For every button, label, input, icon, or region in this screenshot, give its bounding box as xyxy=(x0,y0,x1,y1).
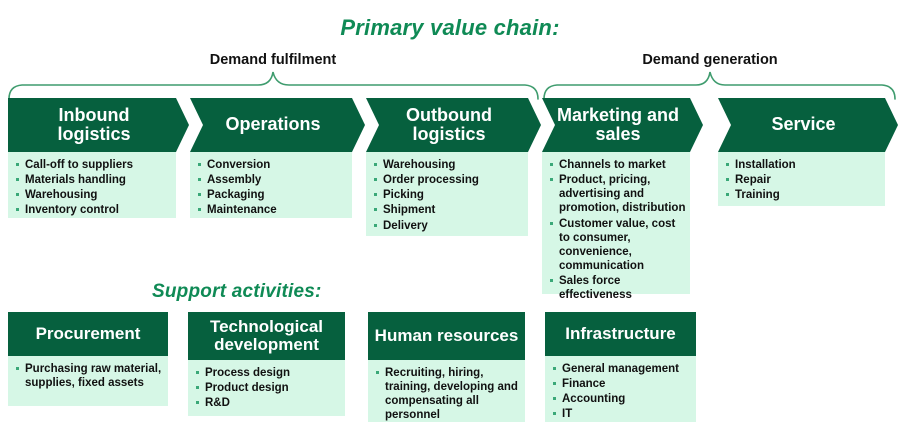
chevron-title-line1: Marketing and xyxy=(557,106,679,125)
list-item: Accounting xyxy=(551,392,692,406)
list-item: Order processing xyxy=(372,173,524,187)
value-chain-diagram: Primary value chain: Support activities:… xyxy=(0,0,900,444)
support-header-human-resources: Human resources xyxy=(368,312,525,360)
chevron-marketing-and-sales[interactable]: Marketing and sales Channels to market P… xyxy=(542,98,690,294)
list-item: Product design xyxy=(194,381,341,395)
support-title-line1: Infrastructure xyxy=(565,324,676,343)
brace-demand-generation xyxy=(544,72,895,99)
list-item: Conversion xyxy=(196,158,348,172)
brace-group xyxy=(0,70,900,100)
list-item: Channels to market xyxy=(548,158,686,172)
list-item: Warehousing xyxy=(372,158,524,172)
list-item: Warehousing xyxy=(14,188,172,202)
list-item: Assembly xyxy=(196,173,348,187)
list-item: Packaging xyxy=(196,188,348,202)
brace-label-demand-fulfilment: Demand fulfilment xyxy=(128,52,418,68)
bullet-list-human-resources: Recruiting, hiring, training, developing… xyxy=(374,366,521,423)
list-item: Shipment xyxy=(372,203,524,217)
chevron-operations[interactable]: Operations Conversion Assembly Packaging… xyxy=(190,98,352,218)
bullet-list-inbound-logistics: Call-off to suppliers Materials handling… xyxy=(14,158,172,218)
list-item: Materials handling xyxy=(14,173,172,187)
chevron-inbound-logistics[interactable]: Inbound logistics Call-off to suppliers … xyxy=(8,98,176,218)
support-title-line2: development xyxy=(214,335,319,354)
chevron-title-line1: Service xyxy=(771,115,835,134)
bullet-list-infrastructure: General management Finance Accounting IT xyxy=(551,362,692,422)
list-item: General management xyxy=(551,362,692,376)
list-item: Recruiting, hiring, training, developing… xyxy=(374,366,521,423)
list-item: IT xyxy=(551,407,692,421)
support-box-technological-development[interactable]: Technological development Process design… xyxy=(188,312,345,416)
bullet-list-operations: Conversion Assembly Packaging Maintenanc… xyxy=(196,158,348,218)
chevron-service[interactable]: Service Installation Repair Training xyxy=(718,98,885,206)
support-header-procurement: Procurement xyxy=(8,312,168,356)
primary-value-chain-title: Primary value chain: xyxy=(0,15,900,41)
chevron-body-inbound-logistics: Call-off to suppliers Materials handling… xyxy=(8,152,176,218)
list-item: Purchasing raw material, supplies, fixed… xyxy=(14,362,164,390)
support-title-line2: resources xyxy=(437,326,518,345)
support-box-procurement[interactable]: Procurement Purchasing raw material, sup… xyxy=(8,312,168,406)
list-item: Maintenance xyxy=(196,203,348,217)
list-item: Repair xyxy=(724,173,881,187)
chevron-header-marketing-and-sales: Marketing and sales xyxy=(542,98,690,152)
list-item: Product, pricing, advertising and promot… xyxy=(548,173,686,215)
chevron-body-outbound-logistics: Warehousing Order processing Picking Shi… xyxy=(366,152,528,236)
support-activities-title: Support activities: xyxy=(152,281,322,303)
support-body-human-resources: Recruiting, hiring, training, developing… xyxy=(368,360,525,422)
chevron-header-service: Service xyxy=(718,98,885,152)
bullet-list-marketing-and-sales: Channels to market Product, pricing, adv… xyxy=(548,158,686,302)
bullet-list-technological-development: Process design Product design R&D xyxy=(194,366,341,410)
list-item: Training xyxy=(724,188,881,202)
list-item: Finance xyxy=(551,377,692,391)
chevron-title-line1: Outbound xyxy=(406,106,492,125)
chevron-outbound-logistics[interactable]: Outbound logistics Warehousing Order pro… xyxy=(366,98,528,236)
list-item: Installation xyxy=(724,158,881,172)
chevron-title-line2: logistics xyxy=(57,125,130,144)
list-item: Customer value, cost to consumer, conven… xyxy=(548,217,686,274)
bullet-list-service: Installation Repair Training xyxy=(724,158,881,202)
list-item: Sales force effectiveness xyxy=(548,274,686,302)
chevron-title-line2: sales xyxy=(557,125,679,144)
support-title-line1: Technological xyxy=(210,317,323,336)
list-item: Picking xyxy=(372,188,524,202)
list-item: Process design xyxy=(194,366,341,380)
bullet-list-outbound-logistics: Warehousing Order processing Picking Shi… xyxy=(372,158,524,233)
bullet-list-procurement: Purchasing raw material, supplies, fixed… xyxy=(14,362,164,390)
list-item: Delivery xyxy=(372,219,524,233)
list-item: R&D xyxy=(194,396,341,410)
chevron-title-line1: Inbound xyxy=(57,106,130,125)
list-item: Call-off to suppliers xyxy=(14,158,172,172)
chevron-body-marketing-and-sales: Channels to market Product, pricing, adv… xyxy=(542,152,690,294)
chevron-header-inbound-logistics: Inbound logistics xyxy=(8,98,176,152)
chevron-body-service: Installation Repair Training xyxy=(718,152,885,206)
support-box-infrastructure[interactable]: Infrastructure General management Financ… xyxy=(545,312,696,422)
support-title-line1: Human xyxy=(375,326,433,345)
support-body-procurement: Purchasing raw material, supplies, fixed… xyxy=(8,356,168,406)
support-header-infrastructure: Infrastructure xyxy=(545,312,696,356)
chevron-title-line1: Operations xyxy=(225,115,320,134)
list-item: Inventory control xyxy=(14,203,172,217)
chevron-body-operations: Conversion Assembly Packaging Maintenanc… xyxy=(190,152,352,218)
brace-demand-fulfilment xyxy=(9,72,538,99)
chevron-title-line2: logistics xyxy=(406,125,492,144)
brace-label-demand-generation: Demand generation xyxy=(565,52,855,68)
chevron-header-operations: Operations xyxy=(190,98,352,152)
support-box-human-resources[interactable]: Human resources Recruiting, hiring, trai… xyxy=(368,312,525,422)
chevron-header-outbound-logistics: Outbound logistics xyxy=(366,98,528,152)
support-header-technological-development: Technological development xyxy=(188,312,345,360)
support-body-technological-development: Process design Product design R&D xyxy=(188,360,345,416)
support-title-line1: Procurement xyxy=(36,324,141,343)
support-body-infrastructure: General management Finance Accounting IT xyxy=(545,356,696,422)
